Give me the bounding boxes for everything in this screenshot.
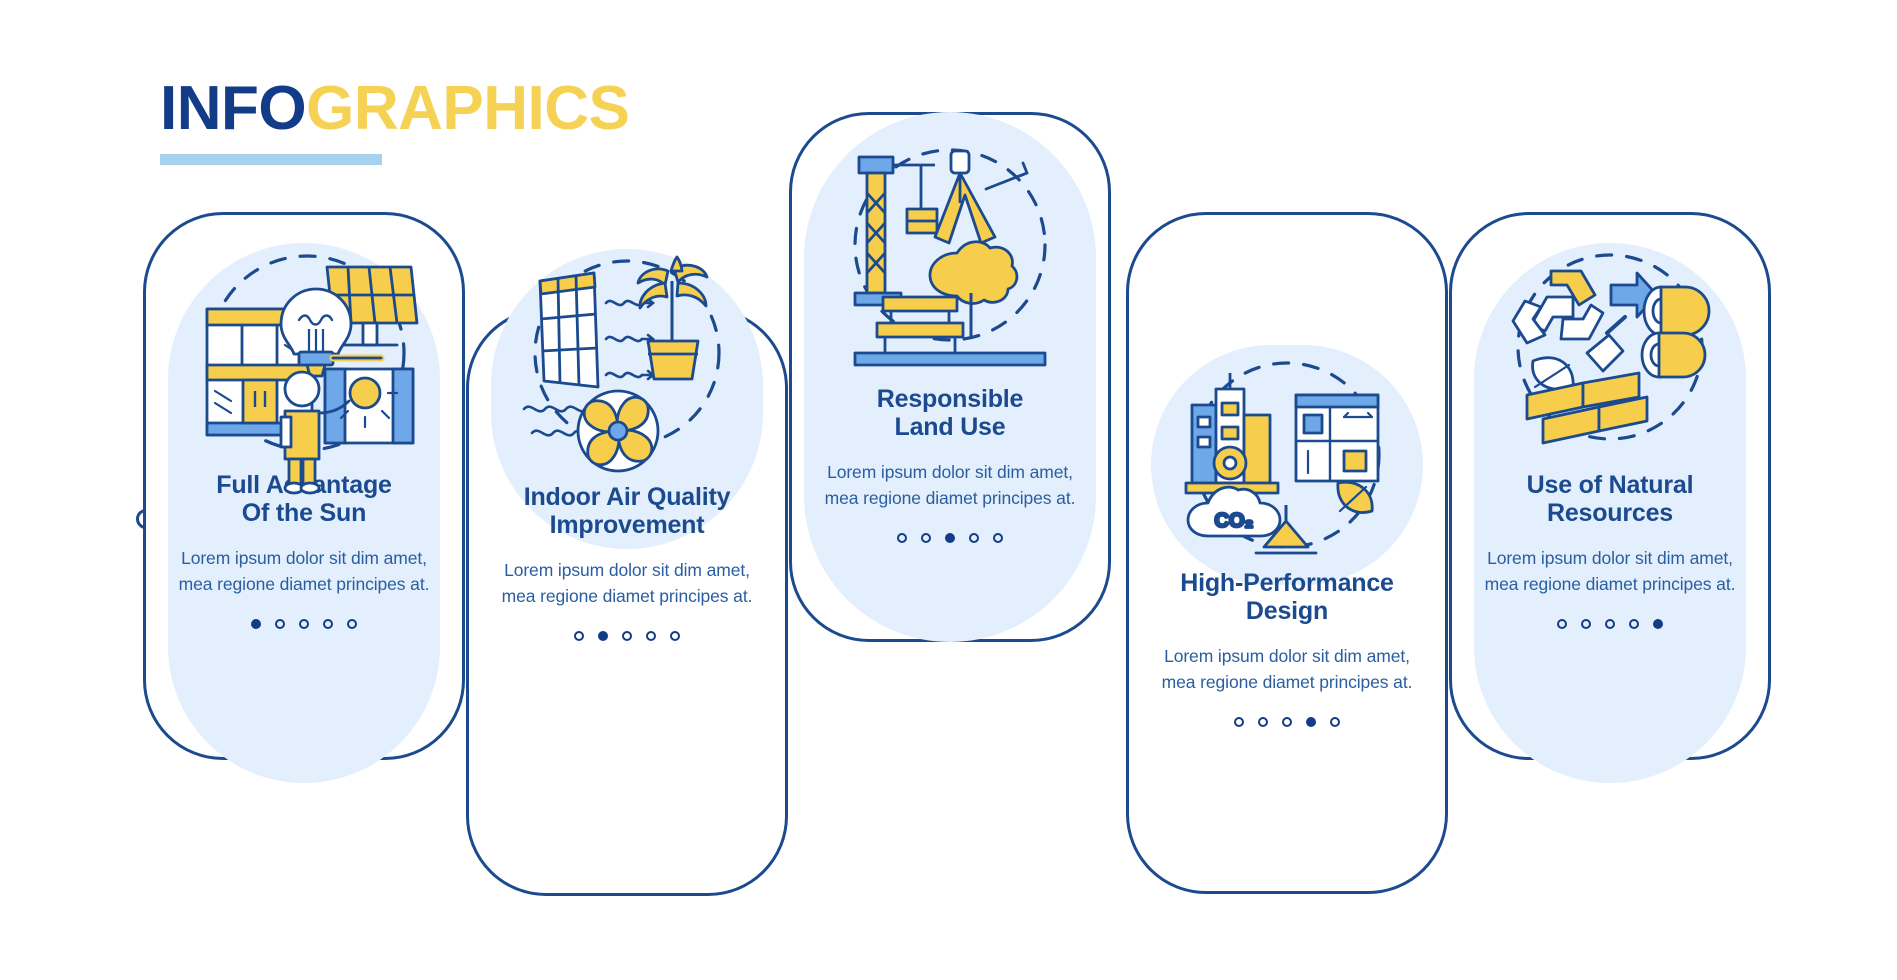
pagination-dot[interactable]	[1306, 717, 1316, 727]
step-card-4-title-line2: Design	[1155, 597, 1419, 625]
pagination-dot[interactable]	[670, 631, 680, 641]
pagination-dot[interactable]	[347, 619, 357, 629]
pagination-dot[interactable]	[1258, 717, 1268, 727]
page-title: INFOGRAPHICS	[160, 78, 629, 165]
pagination-dot[interactable]	[275, 619, 285, 629]
step-card-1-title-line2: Of the Sun	[172, 499, 436, 527]
step-card-3[interactable]: Responsible Land Use Lorem ipsum dolor s…	[789, 112, 1111, 642]
step-card-5-title: Use of Natural Resources	[1478, 471, 1742, 528]
high-performance-design-icon: CO₂	[1168, 355, 1406, 569]
step-card-3-title-line2: Land Use	[818, 413, 1082, 441]
title-part-graphics: GRAPHICS	[306, 74, 629, 143]
responsible-land-use-icon	[831, 137, 1069, 385]
step-card-5[interactable]: Use of Natural Resources Lorem ipsum dol…	[1449, 212, 1771, 760]
pagination-dot[interactable]	[1557, 619, 1567, 629]
pagination-dot[interactable]	[993, 533, 1003, 543]
step-card-2-body: Lorem ipsum dolor sit dim amet, mea regi…	[495, 557, 759, 610]
title-part-info: INFO	[160, 74, 306, 143]
pagination-dot[interactable]	[945, 533, 955, 543]
step-card-4-pagination[interactable]	[1155, 717, 1419, 727]
step-card-2-title-line2: Improvement	[495, 511, 759, 539]
title-underline-bar	[160, 154, 382, 165]
pagination-dot[interactable]	[622, 631, 632, 641]
pagination-dot[interactable]	[1629, 619, 1639, 629]
pagination-dot[interactable]	[969, 533, 979, 543]
step-card-2-title: Indoor Air Quality Improvement	[495, 483, 759, 540]
step-card-4-title-line1: High-Performance	[1155, 569, 1419, 597]
step-card-5-title-line2: Resources	[1478, 499, 1742, 527]
step-card-5-body: Lorem ipsum dolor sit dim amet, mea regi…	[1478, 545, 1742, 598]
step-card-3-title: Responsible Land Use	[818, 385, 1082, 442]
step-card-5-pagination[interactable]	[1478, 619, 1742, 629]
natural-resources-icon	[1491, 241, 1729, 471]
step-card-4-title: High-Performance Design	[1155, 569, 1419, 626]
pagination-dot[interactable]	[1330, 717, 1340, 727]
step-card-1-pagination[interactable]	[172, 619, 436, 629]
pagination-dot[interactable]	[1605, 619, 1615, 629]
pagination-dot[interactable]	[1653, 619, 1663, 629]
step-card-3-pagination[interactable]	[818, 533, 1082, 543]
step-card-3-title-line1: Responsible	[818, 385, 1082, 413]
svg-text:CO₂: CO₂	[1215, 510, 1254, 532]
infographic-canvas: INFOGRAPHICS	[0, 0, 1897, 980]
pagination-dot[interactable]	[299, 619, 309, 629]
pagination-dot[interactable]	[897, 533, 907, 543]
pagination-dot[interactable]	[1581, 619, 1591, 629]
step-card-2-pagination[interactable]	[495, 631, 759, 641]
step-card-1[interactable]: Full Advantage Of the Sun Lorem ipsum do…	[143, 212, 465, 760]
step-card-4[interactable]: CO₂ High-Performance Design Lorem ipsum	[1126, 212, 1448, 894]
pagination-dot[interactable]	[574, 631, 584, 641]
step-card-3-body: Lorem ipsum dolor sit dim amet, mea regi…	[818, 459, 1082, 512]
pagination-dot[interactable]	[323, 619, 333, 629]
title-text: INFOGRAPHICS	[160, 78, 629, 140]
pagination-dot[interactable]	[251, 619, 261, 629]
step-card-5-title-line1: Use of Natural	[1478, 471, 1742, 499]
pagination-dot[interactable]	[1234, 717, 1244, 727]
sun-advantage-icon	[185, 241, 423, 471]
step-card-4-body: Lorem ipsum dolor sit dim amet, mea regi…	[1155, 643, 1419, 696]
pagination-dot[interactable]	[1282, 717, 1292, 727]
step-card-1-body: Lorem ipsum dolor sit dim amet, mea regi…	[172, 545, 436, 598]
pagination-dot[interactable]	[646, 631, 656, 641]
step-card-2[interactable]: Indoor Air Quality Improvement Lorem ips…	[466, 308, 788, 896]
pagination-dot[interactable]	[921, 533, 931, 543]
pagination-dot[interactable]	[598, 631, 608, 641]
indoor-air-quality-icon	[508, 241, 746, 483]
step-card-2-title-line1: Indoor Air Quality	[495, 483, 759, 511]
